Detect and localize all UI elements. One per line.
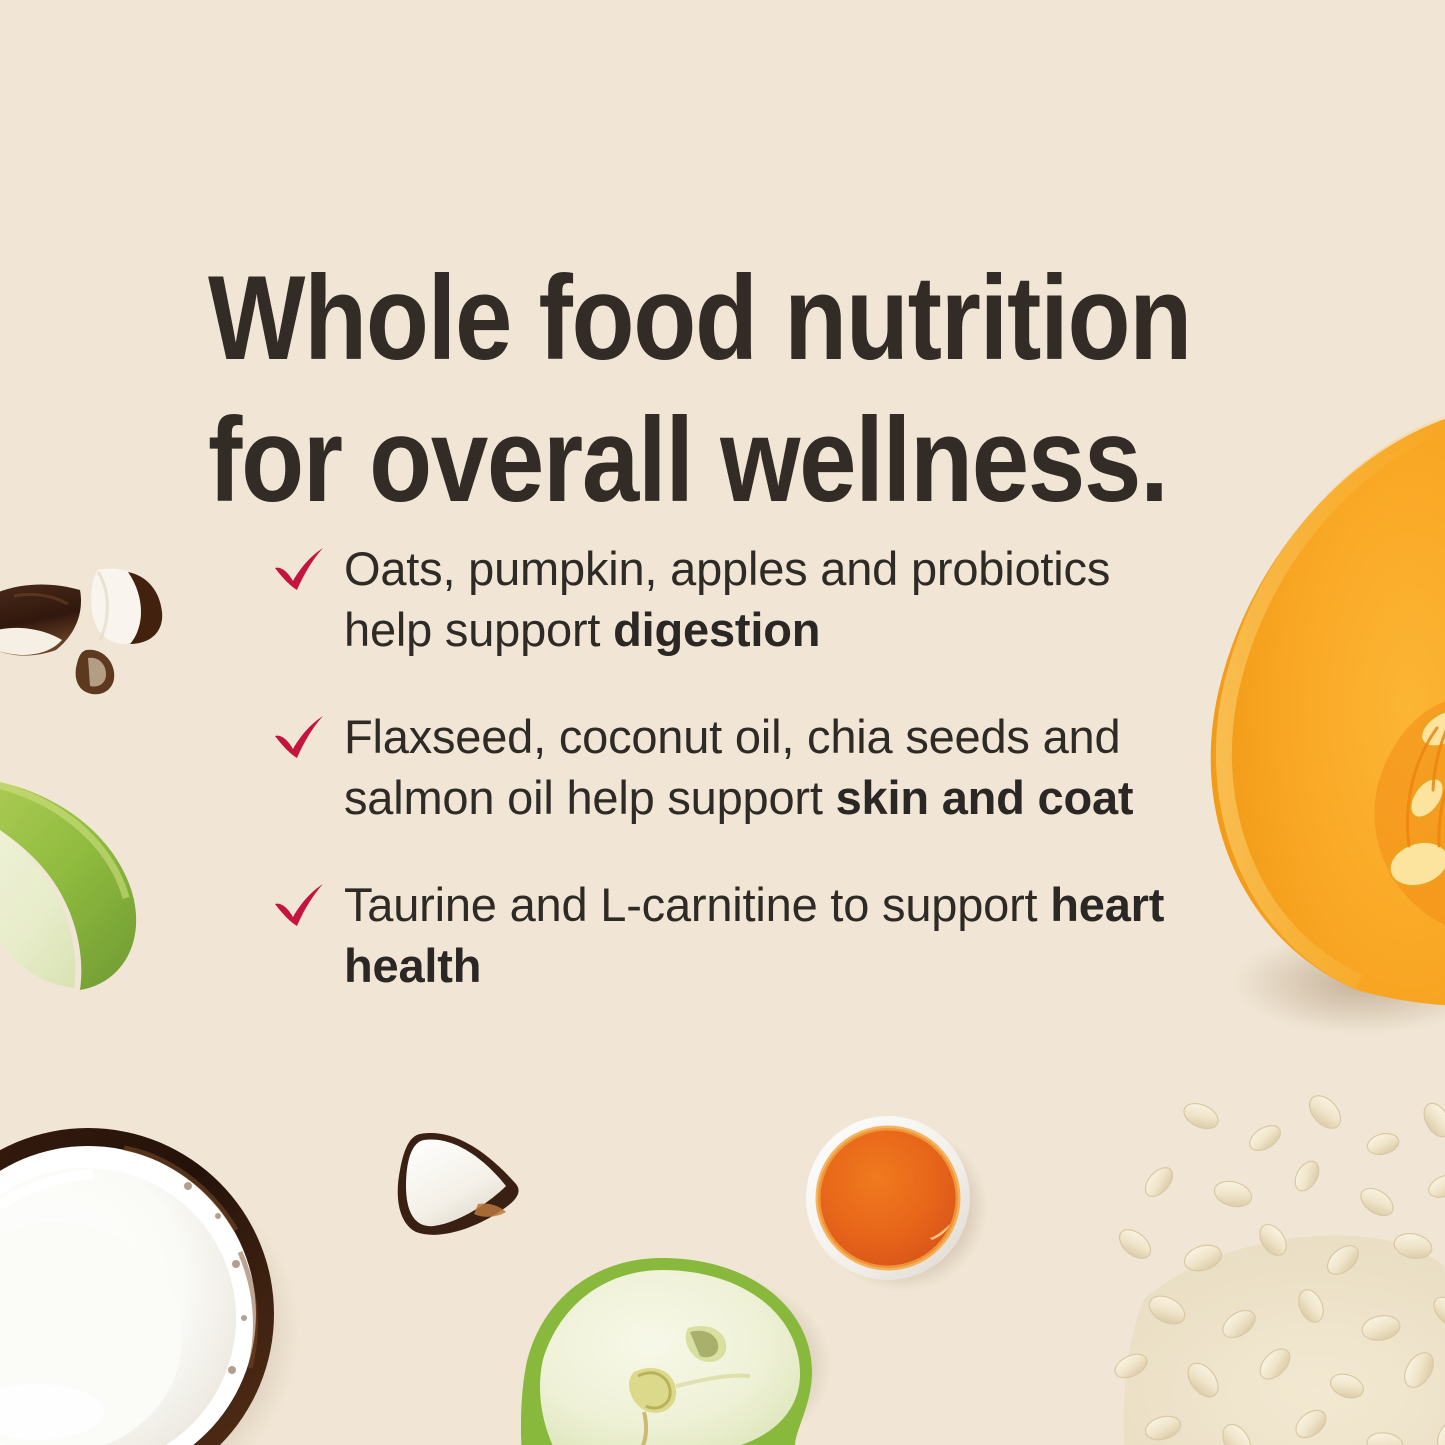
marketing-banner: Whole food nutrition for overall wellnes…	[0, 0, 1445, 1445]
oil-bowl-image	[800, 1108, 986, 1294]
check-icon	[272, 714, 326, 762]
check-icon	[272, 546, 326, 594]
headline-line-2: for overall wellness.	[208, 390, 1154, 532]
headline-line-1: Whole food nutrition	[208, 248, 1154, 390]
list-item-emphasis: digestion	[613, 603, 820, 656]
oats-pile-image	[1115, 1098, 1445, 1445]
apple-half-image	[512, 1256, 830, 1445]
list-item: Taurine and L-carnitine to support heart…	[272, 874, 1192, 996]
list-item-text: Taurine and L-carnitine to support	[344, 878, 1050, 931]
page-title: Whole food nutrition for overall wellnes…	[208, 248, 1154, 531]
pumpkin-half-image	[1187, 398, 1445, 1038]
list-item: Oats, pumpkin, apples and probiotics hel…	[272, 538, 1192, 660]
list-item: Flaxseed, coconut oil, chia seeds and sa…	[272, 706, 1192, 828]
coconut-chunk-image	[86, 566, 164, 646]
coconut-chunk-image	[390, 1128, 526, 1260]
check-icon	[272, 882, 326, 930]
apple-slice-image	[0, 772, 154, 994]
coconut-half-image	[0, 1112, 308, 1445]
benefits-list: Oats, pumpkin, apples and probiotics hel…	[272, 538, 1192, 997]
coconut-chunk-image	[0, 576, 88, 662]
coconut-chunk-image	[72, 648, 118, 696]
list-item-emphasis: skin and coat	[836, 771, 1134, 824]
